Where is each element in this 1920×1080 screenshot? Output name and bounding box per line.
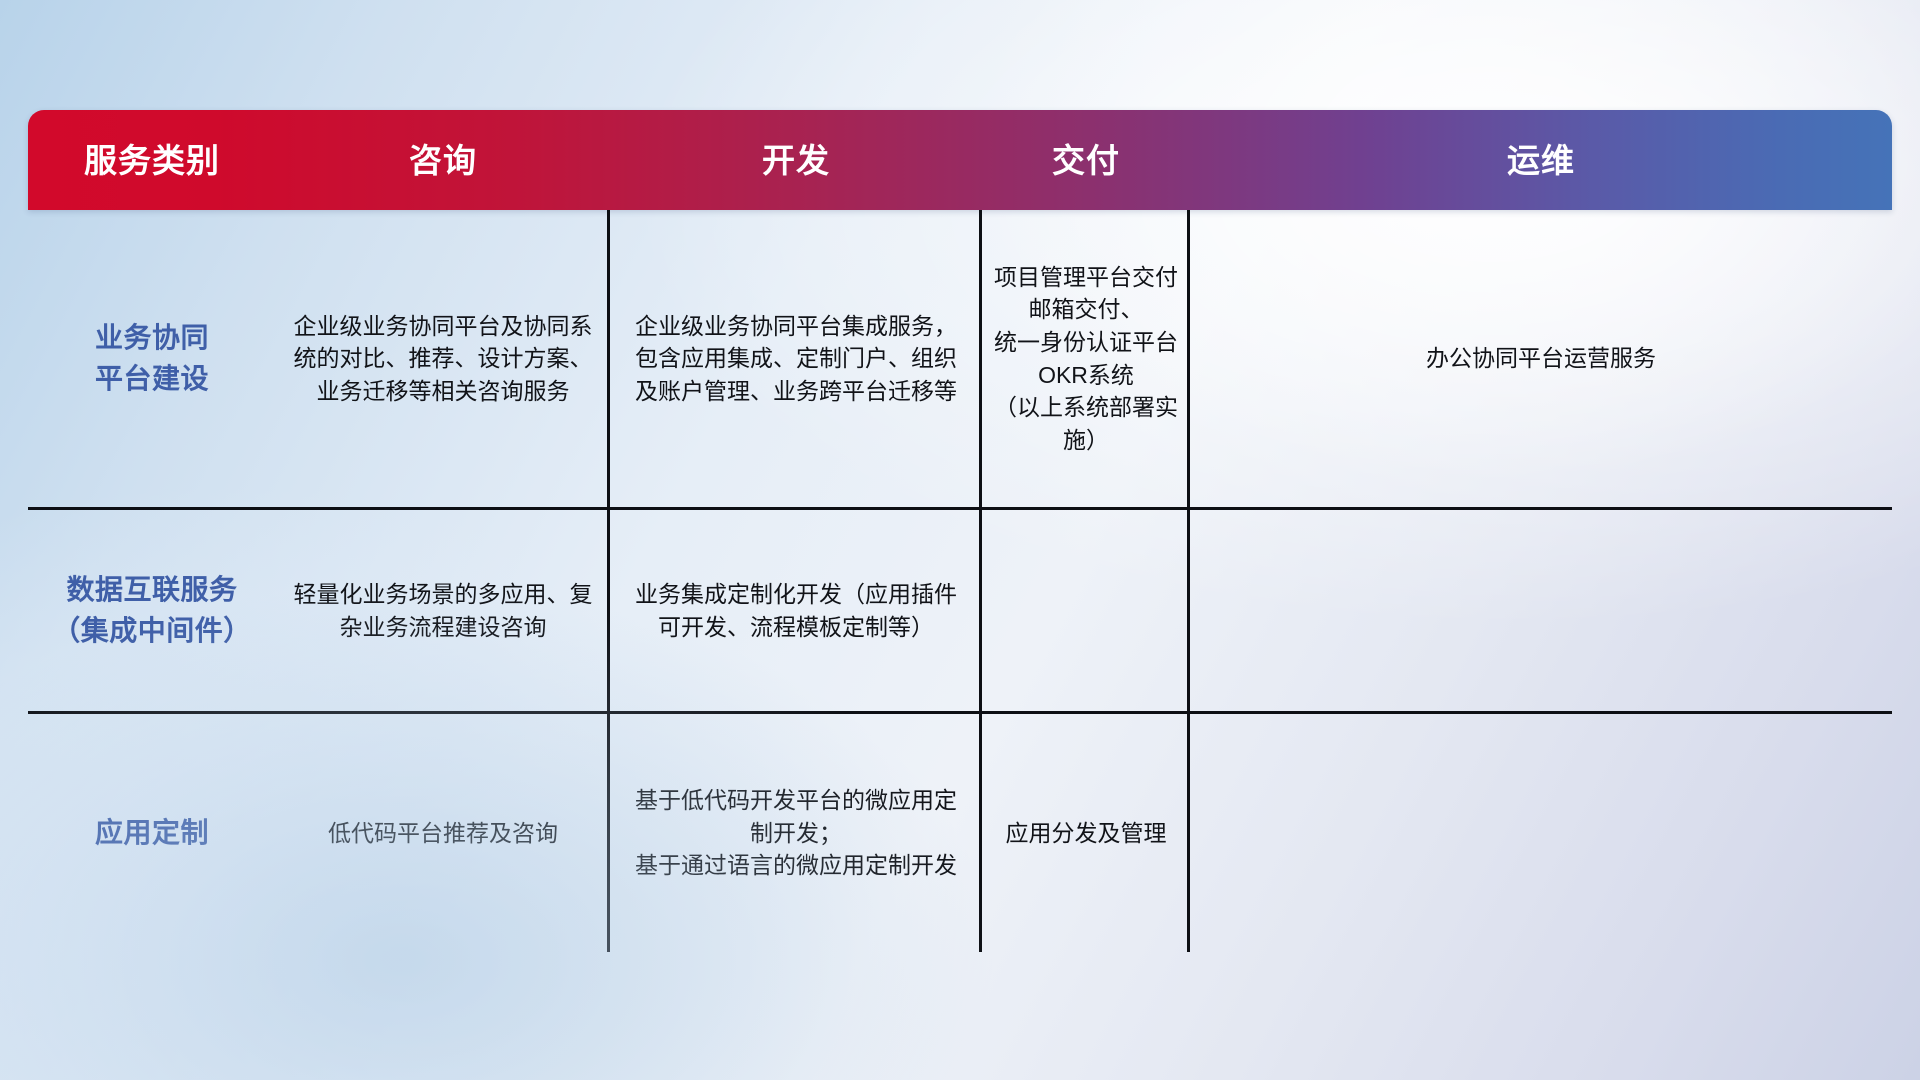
cell-row2-operations xyxy=(1190,510,1892,711)
cell-row2-consulting: 轻量化业务场景的多应用、复 杂业务流程建设咨询 xyxy=(276,510,610,711)
table-row: 应用定制 低代码平台推荐及咨询 基于低代码开发平台的微应用定 制开发； 基于通过… xyxy=(28,714,1892,952)
column-header-category: 服务类别 xyxy=(28,144,276,177)
cell-row1-consulting: 企业级业务协同平台及协同系 统的对比、推荐、设计方案、 业务迁移等相关咨询服务 xyxy=(276,210,610,507)
column-header-development: 开发 xyxy=(610,144,982,177)
table-row: 业务协同 平台建设 企业级业务协同平台及协同系 统的对比、推荐、设计方案、 业务… xyxy=(28,210,1892,510)
slide-canvas: 服务类别 咨询 开发 交付 运维 业务协同 平台建设 企业级业务协同平台及协同系… xyxy=(0,0,1920,1080)
column-header-operations: 运维 xyxy=(1190,144,1892,177)
row-label-business-collaboration: 业务协同 平台建设 xyxy=(28,210,276,507)
table-header-row: 服务类别 咨询 开发 交付 运维 xyxy=(28,110,1892,210)
table-body: 业务协同 平台建设 企业级业务协同平台及协同系 统的对比、推荐、设计方案、 业务… xyxy=(28,210,1892,952)
table-row: 数据互联服务 （集成中间件） 轻量化业务场景的多应用、复 杂业务流程建设咨询 业… xyxy=(28,510,1892,714)
cell-row3-consulting: 低代码平台推荐及咨询 xyxy=(276,714,610,952)
cell-row2-delivery xyxy=(982,510,1190,711)
column-header-delivery: 交付 xyxy=(982,144,1190,177)
cell-row3-delivery: 应用分发及管理 xyxy=(982,714,1190,952)
column-header-consulting: 咨询 xyxy=(276,144,610,177)
cell-row1-delivery: 项目管理平台交付 邮箱交付、 统一身份认证平台 OKR系统 （以上系统部署实施） xyxy=(982,210,1190,507)
cell-row1-operations: 办公协同平台运营服务 xyxy=(1190,210,1892,507)
cell-row3-operations xyxy=(1190,714,1892,952)
cell-row1-development: 企业级业务协同平台集成服务， 包含应用集成、定制门户、组织 及账户管理、业务跨平… xyxy=(610,210,982,507)
cell-row2-development: 业务集成定制化开发（应用插件 可开发、流程模板定制等） xyxy=(610,510,982,711)
row-label-data-interconnect: 数据互联服务 （集成中间件） xyxy=(28,510,276,711)
service-matrix-table: 服务类别 咨询 开发 交付 运维 业务协同 平台建设 企业级业务协同平台及协同系… xyxy=(28,110,1892,955)
cell-row3-development: 基于低代码开发平台的微应用定 制开发； 基于通过语言的微应用定制开发 xyxy=(610,714,982,952)
row-label-app-customization: 应用定制 xyxy=(28,714,276,952)
